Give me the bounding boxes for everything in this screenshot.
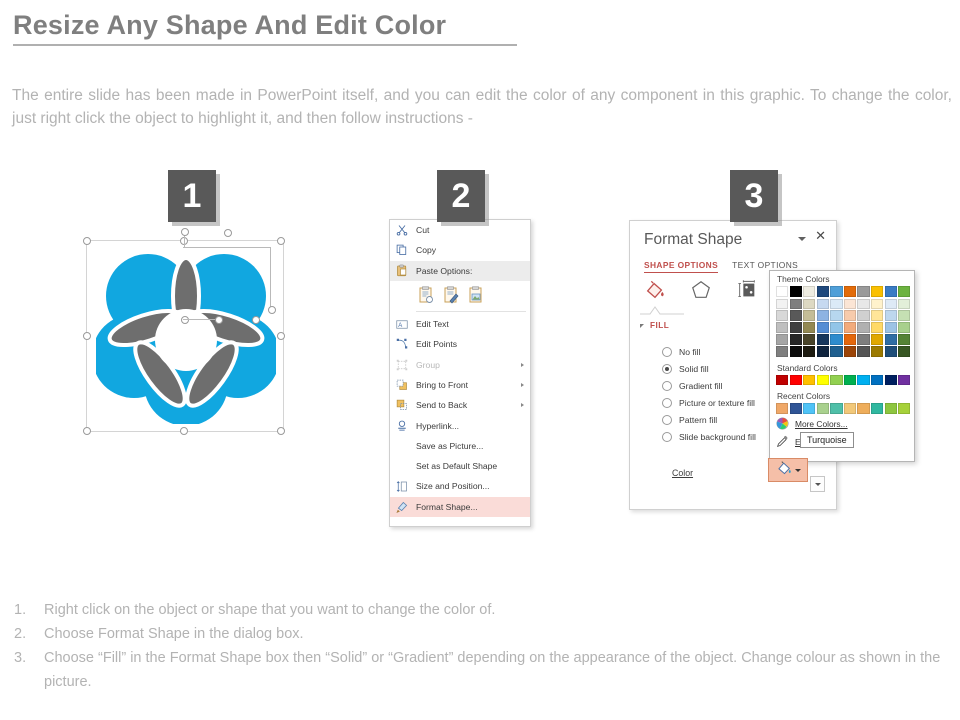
- active-icon-indicator: [640, 305, 684, 315]
- recent-color-swatch[interactable]: [885, 403, 897, 414]
- theme-color-variant-swatch[interactable]: [817, 322, 829, 333]
- theme-color-variant-swatch[interactable]: [871, 334, 883, 345]
- theme-color-variant-swatch[interactable]: [844, 322, 856, 333]
- context-menu-label: Set as Default Shape: [416, 461, 497, 471]
- chevron-down-icon[interactable]: [795, 469, 801, 472]
- effects-pentagon-icon[interactable]: [690, 279, 712, 306]
- format-shape-pane-title: Format Shape: [644, 231, 742, 249]
- recent-color-swatch[interactable]: [776, 403, 788, 414]
- theme-color-variant-swatch[interactable]: [830, 322, 842, 333]
- send-to-back-icon: [395, 398, 409, 412]
- theme-color-variant-swatch[interactable]: [857, 322, 869, 333]
- radio-icon[interactable]: [662, 432, 672, 442]
- fill-section-header[interactable]: FILL: [650, 321, 669, 330]
- theme-color-variant-swatch[interactable]: [885, 299, 897, 310]
- fill-color-button[interactable]: [768, 458, 808, 482]
- paste-picture-icon[interactable]: [468, 286, 484, 304]
- svg-text:A: A: [398, 322, 402, 328]
- context-menu-label: Group: [416, 360, 440, 370]
- context-menu-item-bring-to-front[interactable]: Bring to Front: [390, 375, 530, 395]
- theme-color-variant-swatch[interactable]: [871, 346, 883, 357]
- context-menu-item-size-and-position[interactable]: Size and Position...: [390, 476, 530, 496]
- fill-option-label: Pattern fill: [679, 415, 717, 425]
- fill-option-label: Gradient fill: [679, 381, 722, 391]
- paste-options-icon-row[interactable]: [390, 281, 530, 309]
- chevron-down-icon[interactable]: [798, 237, 806, 241]
- theme-color-variant-swatch[interactable]: [898, 322, 910, 333]
- theme-colors-header: Theme Colors: [770, 271, 914, 286]
- intro-paragraph: The entire slide has been made in PowerP…: [12, 84, 952, 130]
- theme-color-variant-swatch[interactable]: [790, 310, 802, 321]
- theme-color-swatch[interactable]: [817, 286, 829, 297]
- shape-context-menu[interactable]: Cut Copy Paste Options:: [389, 219, 531, 527]
- radio-icon[interactable]: [662, 347, 672, 357]
- fill-paint-bucket-icon[interactable]: [644, 279, 666, 306]
- theme-color-variant-swatch[interactable]: [844, 346, 856, 357]
- adjust-handle-right[interactable]: [268, 306, 276, 314]
- list-item: 1. Right click on the object or shape th…: [14, 598, 944, 622]
- context-menu-item-format-shape[interactable]: Format Shape...: [390, 497, 530, 517]
- step-badge-2: 2: [437, 170, 485, 222]
- standard-color-swatch[interactable]: [776, 375, 788, 386]
- fill-option-gradient-fill[interactable]: Gradient fill: [662, 377, 756, 394]
- theme-color-variant-swatch[interactable]: [803, 310, 815, 321]
- list-item-text: Choose Format Shape in the dialog box.: [44, 622, 944, 646]
- context-menu-item-edit-text[interactable]: A Edit Text: [390, 314, 530, 334]
- theme-color-variant-swatch[interactable]: [776, 322, 788, 333]
- theme-color-variant-swatch[interactable]: [885, 322, 897, 333]
- theme-color-swatch[interactable]: [885, 286, 897, 297]
- recent-colors-header: Recent Colors: [770, 388, 914, 403]
- fill-option-label: Picture or texture fill: [679, 398, 755, 408]
- resize-handle-e[interactable]: [277, 332, 285, 340]
- context-menu-item-hyperlink[interactable]: Hyperlink...: [390, 415, 530, 435]
- list-item-number: 3.: [14, 646, 44, 694]
- recent-color-swatch[interactable]: [830, 403, 842, 414]
- list-item-number: 2.: [14, 622, 44, 646]
- list-item-text: Choose “Fill” in the Format Shape box th…: [44, 646, 944, 694]
- theme-color-variant-swatch[interactable]: [885, 310, 897, 321]
- more-colors-label[interactable]: More Colors...: [795, 419, 848, 429]
- theme-color-variant-swatch[interactable]: [790, 334, 802, 345]
- resize-handle-s[interactable]: [180, 427, 188, 435]
- size-properties-icon[interactable]: [736, 279, 758, 306]
- hyperlink-icon: [395, 419, 409, 433]
- context-menu-label: Bring to Front: [416, 380, 468, 390]
- theme-color-swatch[interactable]: [871, 286, 883, 297]
- theme-color-variant-swatch[interactable]: [857, 334, 869, 345]
- fill-option-label: Solid fill: [679, 364, 709, 374]
- edit-points-icon: [395, 337, 409, 351]
- chevron-right-icon: [521, 403, 524, 407]
- fill-option-pattern-fill[interactable]: Pattern fill: [662, 411, 756, 428]
- color-row-label: Color: [672, 468, 693, 478]
- slide-canvas: Resize Any Shape And Edit Color The enti…: [0, 0, 960, 720]
- theme-color-variant-swatch[interactable]: [871, 310, 883, 321]
- standard-color-swatch[interactable]: [844, 375, 856, 386]
- eyedropper-icon: [776, 435, 789, 450]
- context-menu-item-send-to-back[interactable]: Send to Back: [390, 395, 530, 415]
- theme-colors-variant-grid[interactable]: [770, 299, 914, 357]
- chevron-down-icon: [815, 483, 821, 486]
- context-menu-label: Copy: [416, 245, 436, 255]
- step-badge-1: 1: [168, 170, 216, 222]
- theme-color-variant-swatch[interactable]: [790, 299, 802, 310]
- paste-keep-source-formatting-icon[interactable]: [418, 286, 434, 304]
- context-menu-label: Send to Back: [416, 400, 467, 410]
- fill-options-group[interactable]: No fill Solid fill Gradient fill Picture…: [662, 343, 756, 445]
- theme-color-variant-swatch[interactable]: [803, 299, 815, 310]
- context-menu-item-set-as-default-shape[interactable]: Set as Default Shape: [390, 456, 530, 476]
- theme-color-variant-swatch[interactable]: [898, 299, 910, 310]
- clipboard-icon: [395, 264, 409, 278]
- page-title: Resize Any Shape And Edit Color: [13, 10, 446, 41]
- collapse-triangle-icon[interactable]: [640, 324, 644, 328]
- context-menu-item-edit-points[interactable]: Edit Points: [390, 334, 530, 354]
- color-tooltip: Turquoise: [800, 432, 854, 448]
- context-menu-label: Paste Options:: [416, 266, 472, 276]
- recent-color-swatch[interactable]: [898, 403, 910, 414]
- theme-color-variant-swatch[interactable]: [844, 334, 856, 345]
- chevron-right-icon: [521, 363, 524, 367]
- theme-color-variant-swatch[interactable]: [871, 299, 883, 310]
- adjust-handle-center2[interactable]: [215, 316, 223, 324]
- group-icon: [395, 358, 409, 372]
- theme-color-swatch[interactable]: [898, 286, 910, 297]
- chevron-right-icon: [521, 383, 524, 387]
- adjust-handle-top[interactable]: [224, 229, 232, 237]
- tab-shape-options[interactable]: SHAPE OPTIONS: [644, 260, 718, 273]
- standard-color-swatch[interactable]: [817, 375, 829, 386]
- theme-color-swatch[interactable]: [790, 286, 802, 297]
- standard-color-swatch[interactable]: [803, 375, 815, 386]
- copy-icon: [395, 243, 409, 257]
- theme-color-variant-swatch[interactable]: [898, 334, 910, 345]
- context-menu-item-copy[interactable]: Copy: [390, 240, 530, 260]
- list-item-number: 1.: [14, 598, 44, 622]
- recent-color-swatch[interactable]: [817, 403, 829, 414]
- title-underline: [13, 44, 517, 46]
- theme-color-variant-swatch[interactable]: [817, 334, 829, 345]
- step-badge-3: 3: [730, 170, 778, 222]
- standard-color-swatch[interactable]: [898, 375, 910, 386]
- rotation-handle[interactable]: [181, 228, 189, 236]
- adjust-guide-horizontal: [183, 247, 271, 248]
- context-menu-label: Hyperlink...: [416, 421, 459, 431]
- format-pane-icon-row[interactable]: [644, 279, 758, 306]
- resize-handle-sw[interactable]: [83, 427, 91, 435]
- theme-color-variant-swatch[interactable]: [776, 346, 788, 357]
- fill-option-label: No fill: [679, 347, 701, 357]
- instructions-list: 1. Right click on the object or shape th…: [14, 598, 944, 694]
- recent-color-swatch[interactable]: [803, 403, 815, 414]
- context-menu-item-cut[interactable]: Cut: [390, 220, 530, 240]
- theme-color-variant-swatch[interactable]: [790, 346, 802, 357]
- theme-color-variant-swatch[interactable]: [898, 310, 910, 321]
- fill-option-solid-fill[interactable]: Solid fill: [662, 360, 756, 377]
- theme-color-variant-swatch[interactable]: [790, 322, 802, 333]
- context-menu-label: Edit Points: [416, 339, 457, 349]
- context-menu-label: Edit Text: [416, 319, 449, 329]
- close-icon[interactable]: ✕: [815, 230, 826, 242]
- color-wheel-icon: [776, 417, 789, 432]
- theme-color-variant-swatch[interactable]: [857, 346, 869, 357]
- resize-handle-nw[interactable]: [83, 237, 91, 245]
- format-shape-icon: [395, 500, 409, 514]
- recent-color-swatch[interactable]: [790, 403, 802, 414]
- list-item: 2. Choose Format Shape in the dialog box…: [14, 622, 944, 646]
- theme-color-variant-swatch[interactable]: [776, 299, 788, 310]
- theme-color-variant-swatch[interactable]: [817, 310, 829, 321]
- theme-color-variant-swatch[interactable]: [803, 334, 815, 345]
- theme-color-variant-swatch[interactable]: [857, 310, 869, 321]
- theme-color-variant-swatch[interactable]: [830, 299, 842, 310]
- recent-color-swatch[interactable]: [871, 403, 883, 414]
- list-item: 3. Choose “Fill” in the Format Shape box…: [14, 646, 944, 694]
- theme-color-swatch[interactable]: [830, 286, 842, 297]
- theme-color-variant-swatch[interactable]: [803, 322, 815, 333]
- five-petal-flower-shape[interactable]: [96, 248, 276, 424]
- context-menu-item-paste-options[interactable]: Paste Options:: [390, 261, 530, 281]
- theme-color-variant-swatch[interactable]: [776, 310, 788, 321]
- recent-color-swatch[interactable]: [844, 403, 856, 414]
- radio-icon[interactable]: [662, 415, 672, 425]
- bring-to-front-icon: [395, 378, 409, 392]
- fill-option-no-fill[interactable]: No fill: [662, 343, 756, 360]
- standard-colors-header: Standard Colors: [770, 360, 914, 375]
- theme-color-swatch[interactable]: [844, 286, 856, 297]
- standard-color-swatch[interactable]: [830, 375, 842, 386]
- theme-color-variant-swatch[interactable]: [885, 346, 897, 357]
- context-menu-label: Format Shape...: [416, 502, 478, 512]
- context-menu-item-group[interactable]: Group: [390, 354, 530, 374]
- theme-color-variant-swatch[interactable]: [844, 310, 856, 321]
- standard-color-swatch[interactable]: [871, 375, 883, 386]
- fill-option-slide-background-fill[interactable]: Slide background fill: [662, 428, 756, 445]
- theme-color-variant-swatch[interactable]: [885, 334, 897, 345]
- adjust-handle-outer[interactable]: [252, 316, 260, 324]
- theme-color-variant-swatch[interactable]: [830, 310, 842, 321]
- theme-colors-base-row[interactable]: [770, 286, 914, 297]
- fill-color-bucket-icon: [776, 460, 793, 481]
- paste-use-destination-theme-icon[interactable]: [443, 286, 459, 304]
- resize-handle-ne[interactable]: [277, 237, 285, 245]
- fill-color-secondary-dropdown[interactable]: [810, 476, 825, 492]
- standard-colors-row[interactable]: [770, 375, 914, 386]
- recent-color-swatch[interactable]: [857, 403, 869, 414]
- adjust-handle-center[interactable]: [181, 316, 189, 324]
- context-menu-item-save-as-picture[interactable]: Save as Picture...: [390, 436, 530, 456]
- radio-icon[interactable]: [662, 398, 672, 408]
- theme-color-swatch[interactable]: [776, 286, 788, 297]
- resize-handle-se[interactable]: [277, 427, 285, 435]
- theme-color-variant-swatch[interactable]: [830, 334, 842, 345]
- standard-color-swatch[interactable]: [857, 375, 869, 386]
- theme-color-variant-swatch[interactable]: [830, 346, 842, 357]
- fill-option-picture-or-texture-fill[interactable]: Picture or texture fill: [662, 394, 756, 411]
- list-item-text: Right click on the object or shape that …: [44, 598, 944, 622]
- adjust-guide-vertical: [270, 247, 271, 309]
- theme-color-variant-swatch[interactable]: [776, 334, 788, 345]
- theme-color-swatch[interactable]: [857, 286, 869, 297]
- edit-text-icon: A: [395, 317, 409, 331]
- radio-icon-selected[interactable]: [662, 364, 672, 374]
- size-position-icon: [395, 479, 409, 493]
- theme-color-variant-swatch[interactable]: [817, 346, 829, 357]
- scissors-icon: [395, 223, 409, 237]
- theme-color-variant-swatch[interactable]: [803, 346, 815, 357]
- theme-color-variant-swatch[interactable]: [898, 346, 910, 357]
- recent-colors-row[interactable]: [770, 403, 914, 414]
- standard-color-swatch[interactable]: [885, 375, 897, 386]
- adjust-guide-center: [183, 319, 217, 320]
- context-menu-label: Save as Picture...: [416, 441, 483, 451]
- standard-color-swatch[interactable]: [790, 375, 802, 386]
- radio-icon[interactable]: [662, 381, 672, 391]
- context-menu-label: Cut: [416, 225, 429, 235]
- theme-color-variant-swatch[interactable]: [817, 299, 829, 310]
- more-colors-row[interactable]: More Colors...: [770, 414, 914, 432]
- theme-color-variant-swatch[interactable]: [844, 299, 856, 310]
- theme-color-variant-swatch[interactable]: [857, 299, 869, 310]
- menu-separator: [416, 311, 526, 312]
- theme-color-variant-swatch[interactable]: [871, 322, 883, 333]
- context-menu-label: Size and Position...: [416, 481, 490, 491]
- resize-handle-w[interactable]: [83, 332, 91, 340]
- theme-color-swatch[interactable]: [803, 286, 815, 297]
- fill-option-label: Slide background fill: [679, 432, 756, 442]
